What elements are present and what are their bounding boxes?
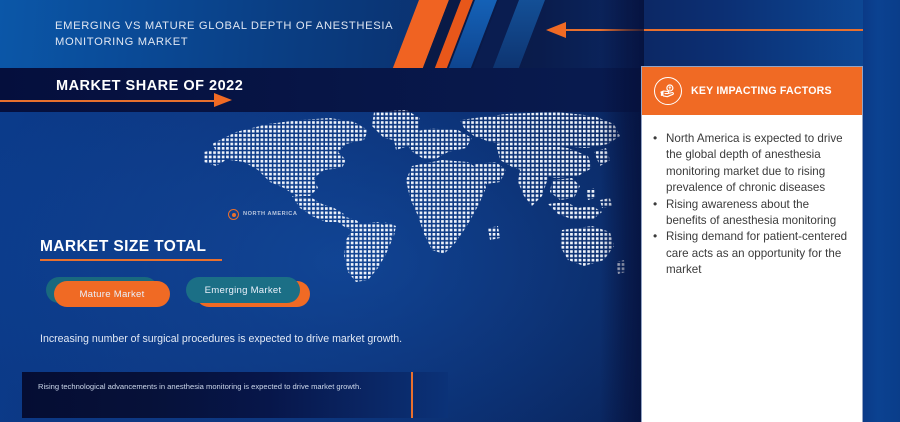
note-secondary-banner — [22, 372, 448, 418]
location-dot-icon — [228, 209, 239, 220]
hand-holding-coin-icon — [654, 77, 682, 105]
key-factors-header: KEY IMPACTING FACTORS — [642, 67, 862, 115]
infographic-slide: EMERGING VS MATURE GLOBAL DEPTH OF ANEST… — [0, 0, 900, 422]
panel-left-shadow — [600, 0, 644, 422]
map-region-label: NORTH AMERICA — [243, 211, 298, 217]
right-edge-strip — [863, 0, 900, 422]
market-size-title: MARKET SIZE TOTAL — [40, 238, 206, 256]
legend-emerging-label: Emerging Market — [186, 277, 300, 303]
market-share-arrow-line — [0, 100, 216, 102]
arrow-left-icon — [546, 22, 566, 38]
key-factors-title: KEY IMPACTING FACTORS — [691, 85, 832, 97]
note-primary: Increasing number of surgical procedures… — [40, 332, 420, 347]
note-secondary: Rising technological advancements in ane… — [38, 381, 408, 392]
list-item: Rising awareness about the benefits of a… — [652, 197, 848, 230]
key-impacting-factors-panel: KEY IMPACTING FACTORS North America is e… — [641, 66, 863, 422]
key-factors-list: North America is expected to drive the g… — [642, 115, 862, 279]
legend-item-mature-market[interactable]: Mature Market — [46, 277, 176, 307]
page-title: EMERGING VS MATURE GLOBAL DEPTH OF ANEST… — [55, 18, 425, 50]
legend-mature-label: Mature Market — [54, 281, 170, 307]
legend-item-emerging-market[interactable]: Emerging Market — [178, 277, 320, 307]
market-share-label: MARKET SHARE OF 2022 — [56, 78, 243, 94]
world-map — [196, 104, 626, 288]
list-item: North America is expected to drive the g… — [652, 131, 848, 197]
market-size-underline — [40, 259, 222, 261]
note-banner-accent-line — [411, 372, 413, 418]
list-item: Rising demand for patient-centered care … — [652, 229, 848, 278]
